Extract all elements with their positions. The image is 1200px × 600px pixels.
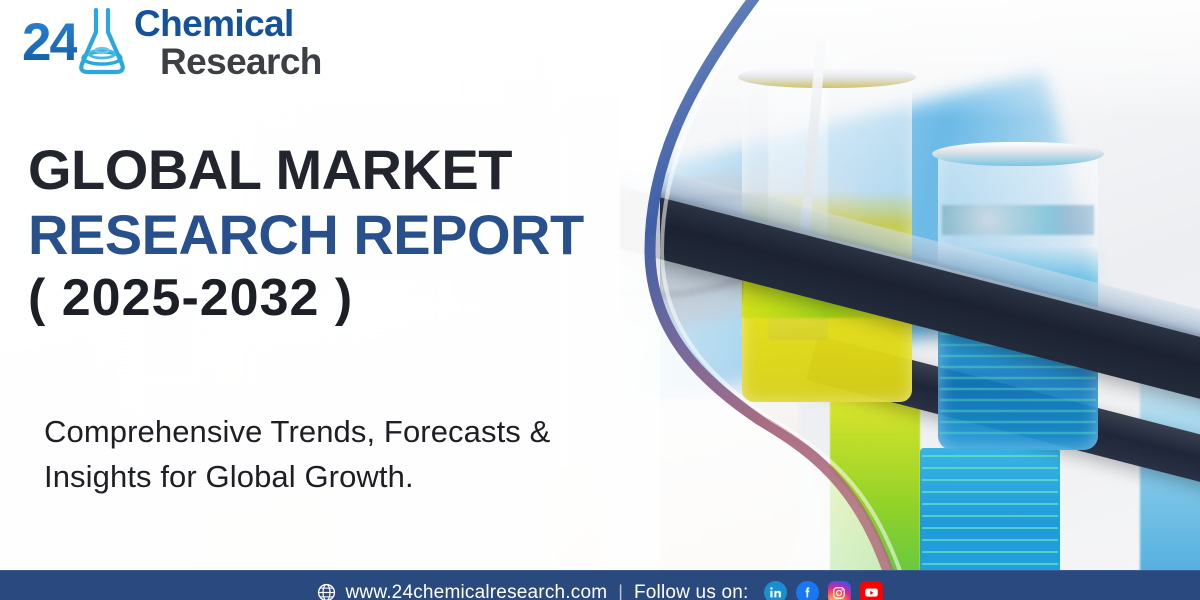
youtube-icon[interactable]	[860, 581, 883, 600]
brand-logo[interactable]: 24 Chemical Research	[20, 4, 322, 80]
logo-mark: 24	[20, 4, 130, 80]
footer-content: www.24chemicalresearch.com | Follow us o…	[317, 581, 882, 600]
footer-bar: www.24chemicalresearch.com | Follow us o…	[0, 570, 1200, 600]
social-links	[764, 581, 883, 600]
page-title: GLOBAL MARKET RESEARCH REPORT ( 2025-203…	[28, 138, 584, 328]
footer-follow-label: Follow us on:	[634, 582, 749, 600]
headline-year-range: ( 2025-2032 )	[28, 268, 584, 328]
logo-word-research: Research	[160, 43, 322, 80]
report-banner: 24 Chemical Research GLOBAL MARKET RESEA…	[0, 0, 1200, 600]
logo-word-chemical: Chemical	[134, 5, 322, 42]
facebook-icon[interactable]	[796, 581, 819, 600]
footer-website-url[interactable]: www.24chemicalresearch.com	[345, 582, 607, 600]
globe-icon	[317, 583, 336, 600]
subtitle: Comprehensive Trends, Forecasts & Insigh…	[44, 410, 550, 500]
logo-number: 24	[22, 12, 77, 73]
headline-line-2: RESEARCH REPORT	[28, 203, 584, 268]
subtitle-line-1: Comprehensive Trends, Forecasts &	[44, 410, 550, 455]
headline-line-1: GLOBAL MARKET	[28, 138, 584, 203]
linkedin-icon[interactable]	[764, 581, 787, 600]
subtitle-line-2: Insights for Global Growth.	[44, 455, 550, 500]
instagram-icon[interactable]	[828, 581, 851, 600]
footer-separator: |	[618, 582, 623, 600]
logo-wordmark: Chemical Research	[134, 5, 322, 80]
flask-ripple-icon	[76, 6, 128, 83]
